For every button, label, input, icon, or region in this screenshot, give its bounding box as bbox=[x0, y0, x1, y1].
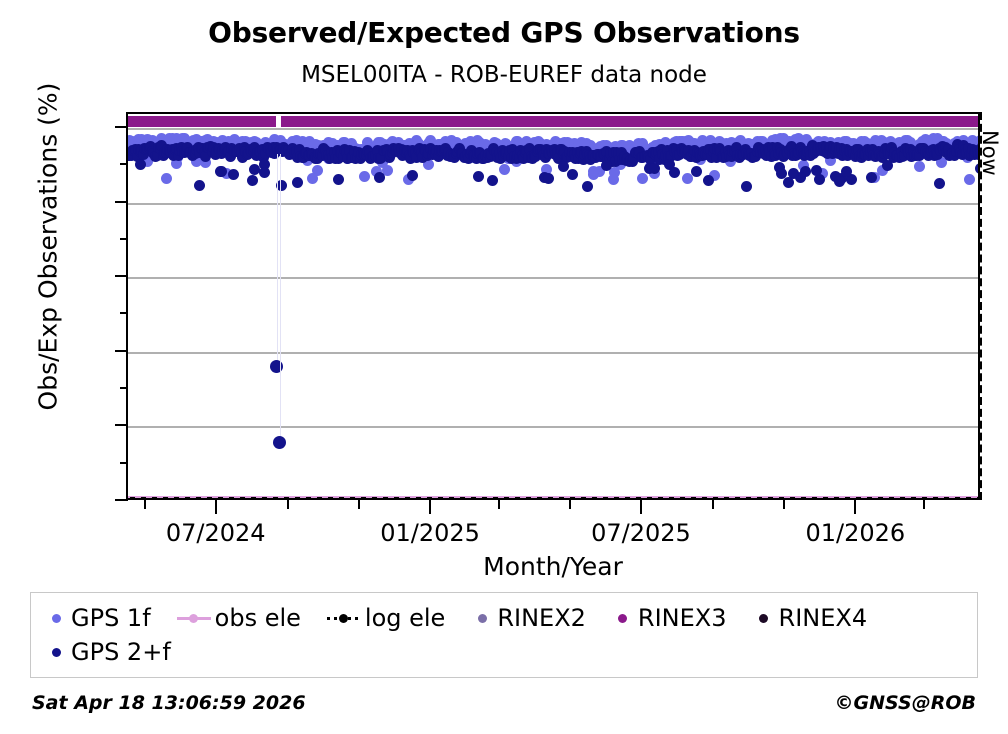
outlier-connector bbox=[280, 154, 281, 442]
legend-entry-gps-1f[interactable]: GPS 1f bbox=[45, 604, 151, 632]
x-tick-minor bbox=[569, 500, 571, 509]
data-point-outlier bbox=[247, 175, 258, 186]
legend-marker-icon bbox=[753, 607, 775, 629]
x-tick-label: 07/2024 bbox=[136, 519, 296, 547]
legend-label: GPS 1f bbox=[71, 604, 151, 632]
legend-marker-icon bbox=[45, 641, 67, 663]
x-tick-minor bbox=[144, 500, 146, 509]
legend-marker-icon bbox=[45, 607, 67, 629]
data-point-outlier bbox=[333, 174, 344, 185]
legend-marker-icon bbox=[177, 607, 211, 629]
x-tick-minor bbox=[287, 500, 289, 509]
plot-area bbox=[126, 112, 980, 500]
x-tick-major bbox=[854, 500, 856, 514]
x-tick-minor bbox=[498, 500, 500, 509]
x-tick-major bbox=[429, 500, 431, 514]
legend-line-icon bbox=[177, 617, 211, 620]
legend-row: GPS 1fobs elelog eleRINEX2RINEX3RINEX4 bbox=[45, 601, 963, 635]
x-axis-label: Month/Year bbox=[126, 552, 980, 581]
data-point-outlier bbox=[259, 167, 270, 178]
gridline bbox=[128, 203, 978, 205]
legend-dot-icon bbox=[618, 614, 627, 623]
legend-marker-icon bbox=[612, 607, 634, 629]
data-point-outlier bbox=[273, 436, 286, 449]
legend-entry-rinex2[interactable]: RINEX2 bbox=[471, 604, 586, 632]
data-point-outlier bbox=[135, 159, 146, 170]
legend-label: RINEX3 bbox=[638, 604, 727, 632]
legend-entry-rinex4[interactable]: RINEX4 bbox=[753, 604, 868, 632]
data-point-outlier bbox=[543, 173, 554, 184]
data-point-outlier bbox=[374, 172, 385, 183]
data-point-outlier bbox=[834, 176, 845, 187]
gridline bbox=[128, 426, 978, 428]
legend-dot-icon bbox=[759, 614, 768, 623]
data-point-outlier bbox=[601, 160, 612, 171]
legend-label: GPS 2+f bbox=[71, 638, 171, 666]
legend-entry-log-ele[interactable]: log ele bbox=[327, 604, 445, 632]
data-point-outlier bbox=[914, 161, 925, 172]
data-point-outlier bbox=[359, 171, 370, 182]
gridline bbox=[128, 352, 978, 354]
plot-clip bbox=[128, 114, 978, 498]
x-tick-label: 01/2026 bbox=[775, 519, 935, 547]
data-point-outlier bbox=[703, 175, 714, 186]
legend-dot-icon bbox=[52, 648, 61, 657]
data-point-outlier bbox=[882, 160, 893, 171]
gridline bbox=[128, 277, 978, 279]
data-point-outlier bbox=[637, 173, 648, 184]
legend-label: RINEX2 bbox=[497, 604, 586, 632]
data-point-outlier bbox=[741, 181, 752, 192]
legend-dotted-line-icon bbox=[327, 617, 361, 620]
data-point-outlier bbox=[567, 169, 578, 180]
legend-label: log ele bbox=[365, 604, 445, 632]
legend-entry-obs-ele[interactable]: obs ele bbox=[177, 604, 301, 632]
y-axis-label: Obs/Exp Observations (%) bbox=[34, 37, 63, 457]
series-band-gap-rinex3 bbox=[276, 114, 281, 127]
x-tick-minor bbox=[712, 500, 714, 509]
page-title: Observed/Expected GPS Observations bbox=[0, 16, 1008, 49]
x-tick-label: 01/2025 bbox=[350, 519, 510, 547]
x-tick-major bbox=[640, 500, 642, 514]
data-point-outlier bbox=[292, 177, 303, 188]
outlier-connector bbox=[277, 154, 278, 367]
data-point-outlier bbox=[228, 169, 239, 180]
series-band-rinex3 bbox=[128, 116, 978, 127]
data-point-outlier bbox=[487, 175, 498, 186]
data-point-outlier bbox=[499, 164, 510, 175]
footer-credit: ©GNSS@ROB bbox=[835, 692, 976, 714]
page-subtitle: MSEL00ITA - ROB-EUREF data node bbox=[0, 62, 1008, 88]
data-point-outlier bbox=[964, 174, 975, 185]
legend-marker-icon bbox=[327, 607, 361, 629]
legend-marker-icon bbox=[471, 607, 493, 629]
data-point-outlier bbox=[249, 164, 260, 175]
x-tick-major bbox=[215, 500, 217, 514]
now-marker-label: Now bbox=[978, 130, 1002, 176]
data-point-outlier bbox=[407, 170, 418, 181]
data-point-outlier bbox=[669, 167, 680, 178]
legend-row: GPS 2+f bbox=[45, 635, 963, 669]
data-point-outlier bbox=[216, 166, 227, 177]
x-tick-minor bbox=[923, 500, 925, 509]
data-point-outlier bbox=[588, 166, 599, 177]
x-tick-minor bbox=[783, 500, 785, 509]
legend-dot-icon bbox=[52, 614, 61, 623]
footer-timestamp: Sat Apr 18 13:06:59 2026 bbox=[32, 692, 306, 714]
data-point-outlier bbox=[582, 181, 593, 192]
x-tick-label: 07/2025 bbox=[561, 519, 721, 547]
data-point-outlier bbox=[473, 171, 484, 182]
legend-label: obs ele bbox=[215, 604, 301, 632]
data-point-outlier bbox=[608, 174, 619, 185]
legend-entry-rinex3[interactable]: RINEX3 bbox=[612, 604, 727, 632]
chart-legend: GPS 1fobs elelog eleRINEX2RINEX3RINEX4 G… bbox=[30, 592, 978, 678]
legend-dot-icon bbox=[478, 614, 487, 623]
data-point-outlier bbox=[307, 173, 318, 184]
data-point-outlier bbox=[934, 178, 945, 189]
data-point-outlier bbox=[783, 177, 794, 188]
data-point-outlier bbox=[194, 180, 205, 191]
data-point-outlier bbox=[691, 166, 702, 177]
data-point-outlier bbox=[161, 173, 172, 184]
gridline bbox=[128, 128, 978, 130]
data-point-outlier bbox=[270, 360, 283, 373]
data-point-outlier bbox=[866, 172, 877, 183]
legend-label: RINEX4 bbox=[779, 604, 868, 632]
data-point-outlier bbox=[649, 163, 660, 174]
series-line-log-ele bbox=[130, 497, 978, 498]
legend-entry-gps-2-f[interactable]: GPS 2+f bbox=[45, 638, 171, 666]
x-tick-minor bbox=[358, 500, 360, 509]
